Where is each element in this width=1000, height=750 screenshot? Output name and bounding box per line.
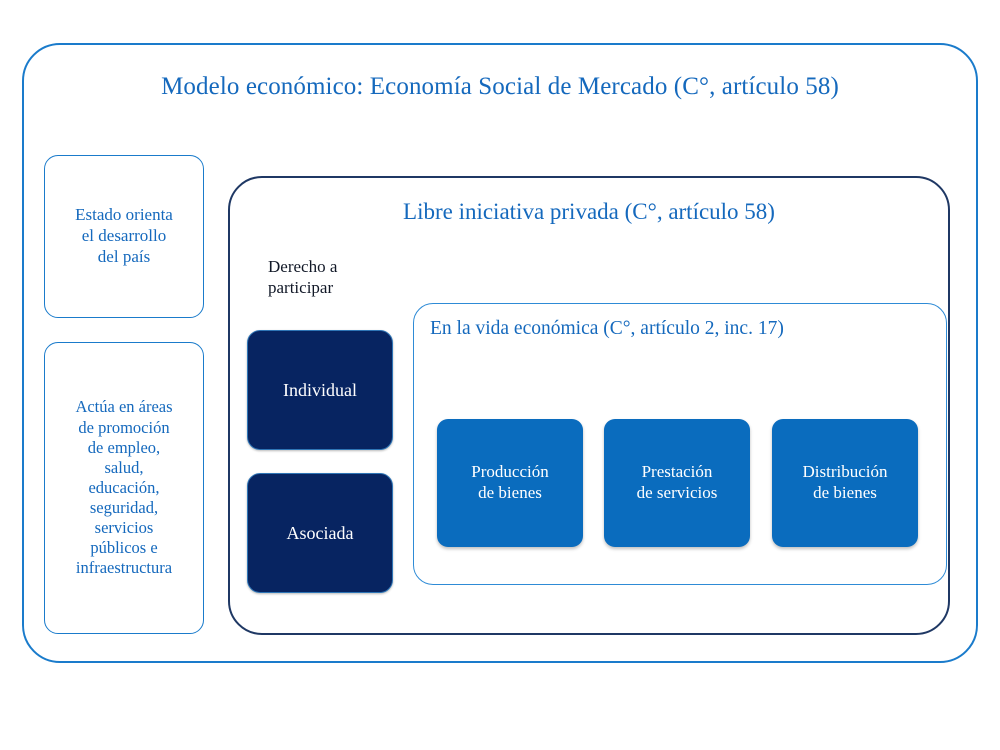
economic-life-title: En la vida económica (C°, artículo 2, in… bbox=[430, 318, 784, 340]
state-role-box-areas-label: Actúa en áreas de promoción de empleo, s… bbox=[45, 397, 203, 578]
economic-activity-services: Prestación de servicios bbox=[604, 419, 750, 547]
private-initiative-title: Libre iniciativa privada (C°, artículo 5… bbox=[230, 199, 948, 225]
economic-activity-production: Producción de bienes bbox=[437, 419, 583, 547]
right-to-participate-caption: Derecho a participar bbox=[268, 256, 408, 299]
diagram-canvas: Modelo económico: Economía Social de Mer… bbox=[0, 0, 1000, 750]
participation-form-associated-label: Asociada bbox=[287, 523, 354, 544]
participation-form-individual: Individual bbox=[247, 330, 393, 450]
state-role-box-areas: Actúa en áreas de promoción de empleo, s… bbox=[44, 342, 204, 634]
diagram-title: Modelo económico: Economía Social de Mer… bbox=[24, 73, 976, 102]
state-role-box-development-label: Estado orienta el desarrollo del país bbox=[45, 205, 203, 267]
participation-form-individual-label: Individual bbox=[283, 380, 357, 401]
participation-form-associated: Asociada bbox=[247, 473, 393, 593]
state-role-box-development: Estado orienta el desarrollo del país bbox=[44, 155, 204, 318]
economic-activity-distribution: Distribución de bienes bbox=[772, 419, 918, 547]
